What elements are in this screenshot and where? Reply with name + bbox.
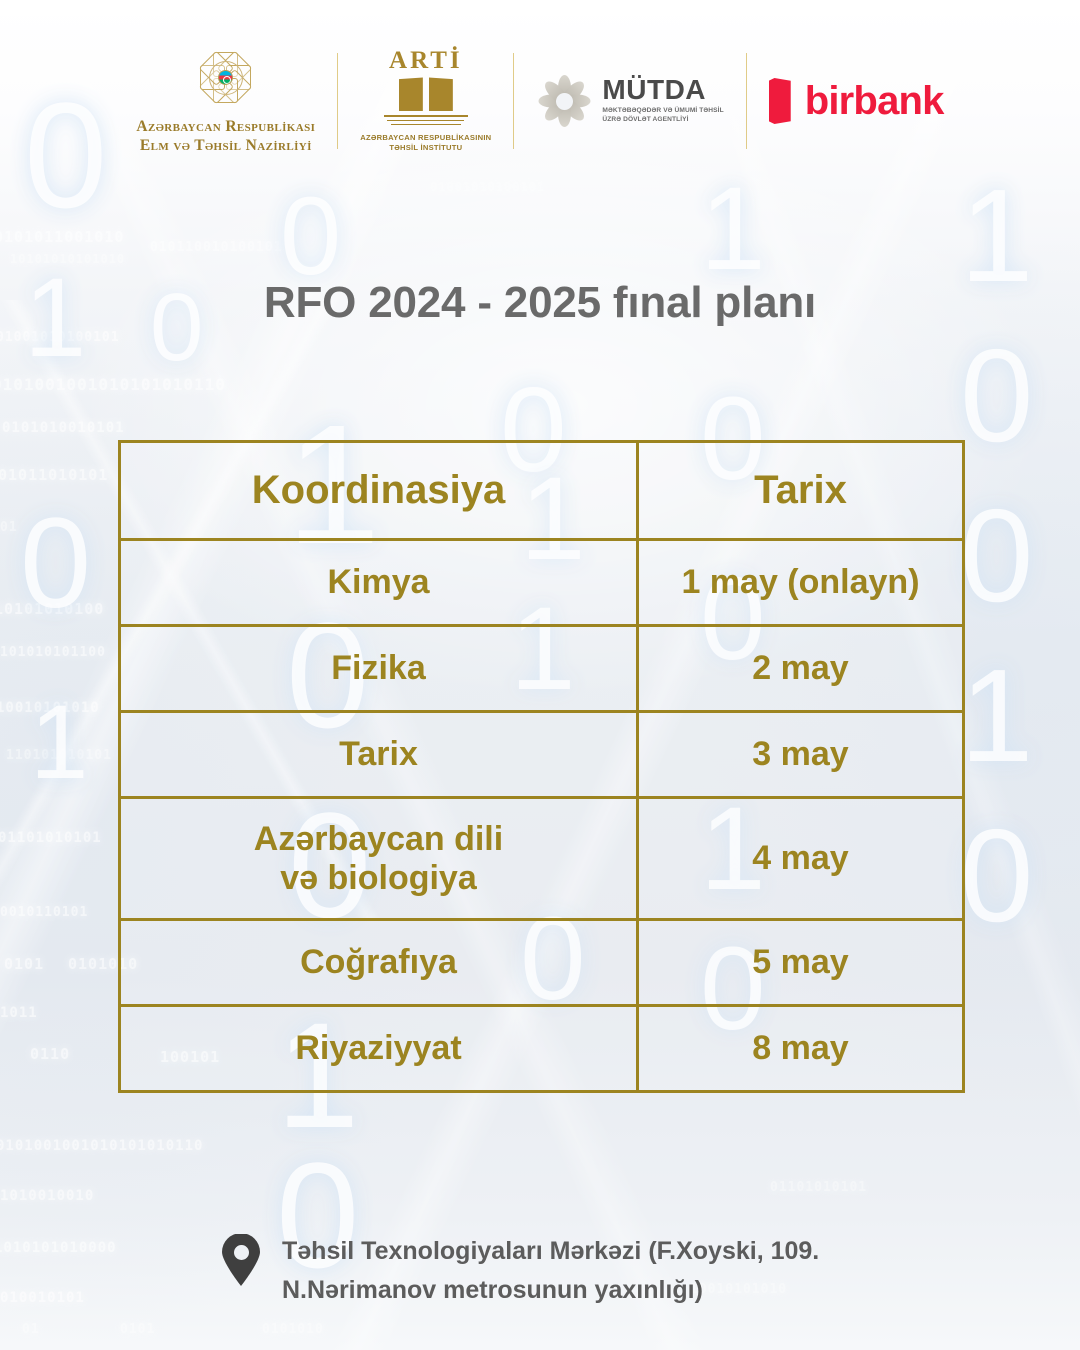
binary-digit-large: 0: [960, 810, 1033, 942]
binary-string: 010110010100101: [150, 240, 282, 255]
table-cell-subject-line2: və biologiya: [121, 859, 636, 897]
logo-ministry: Azərbaycan Respublikası Elm və Təhsil Na…: [114, 46, 337, 156]
table-cell-date: 5 may: [638, 920, 964, 1006]
table-header-koordinasiya: Koordinasiya: [120, 442, 638, 540]
binary-digit-large: 1: [700, 170, 766, 288]
footer-address: Təhsil Texnologiyaları Mərkəzi (F.Xoyski…: [222, 1232, 942, 1310]
binary-digit-large: 0: [960, 330, 1033, 462]
table-cell-date: 3 may: [638, 712, 964, 798]
binary-string: 0010110101: [0, 905, 88, 920]
arti-subtitle-line1: AZƏRBAYCAN RESPUBLİKASININ: [360, 133, 491, 143]
binary-string: 0101001001010101010110: [0, 375, 226, 394]
table-row: Riyaziyyat 8 may: [120, 1006, 964, 1092]
binary-string: 10010101010: [0, 700, 100, 716]
binary-string: 1011: [0, 1005, 38, 1021]
table-row: Coğrafıya 5 may: [120, 920, 964, 1006]
binary-digit-large: 1: [960, 650, 1033, 782]
table-cell-subject: Kimya: [120, 540, 638, 626]
binary-string: 10101010101010: [10, 252, 125, 266]
binary-string: 101010101100: [0, 645, 106, 660]
address-text: Təhsil Texnologiyaları Mərkəzi (F.Xoyski…: [282, 1232, 819, 1310]
table-cell-subject: Azərbaycan dili və biologiya: [120, 798, 638, 920]
binary-string: 01101010101: [0, 830, 102, 846]
table-header-tarix: Tarix: [638, 442, 964, 540]
schedule-table: Koordinasiya Tarix Kimya 1 may (onlayn) …: [118, 440, 965, 1093]
binary-string: 0101011001010: [0, 228, 124, 246]
binary-string: 01001010100101: [430, 180, 545, 194]
binary-string: 0101001001010101010110: [0, 1138, 203, 1154]
table-cell-subject: Coğrafıya: [120, 920, 638, 1006]
logo-mutda: MÜTDA MƏKTƏBƏQƏDƏR VƏ ÜMUMİ TƏHSİL ÜZRƏ …: [514, 46, 745, 156]
binary-string: 01: [22, 1322, 40, 1337]
mutda-subtitle-line2: ÜZRƏ DÖVLƏT AGENTLİYİ: [602, 116, 723, 125]
arti-rule-lines: [384, 115, 468, 128]
table-row: Tarix 3 may: [120, 712, 964, 798]
binary-string: 01001010100101: [0, 330, 120, 345]
table-cell-date: 2 may: [638, 626, 964, 712]
ministry-name-line1: Azərbaycan Respublikası: [136, 118, 315, 137]
address-line1: Təhsil Texnologiyaları Mərkəzi (F.Xoyski…: [282, 1232, 819, 1271]
arti-subtitle-line2: TƏHSİL İNSTİTUTU: [360, 143, 491, 153]
table-cell-date: 4 may: [638, 798, 964, 920]
binary-string: 01101010101: [770, 1180, 867, 1195]
binary-string: 1010101010000: [0, 1240, 117, 1256]
birbank-mark-icon: [769, 78, 791, 124]
binary-digit-large: 0: [960, 490, 1033, 622]
azerbaijan-ministry-emblem-icon: [195, 47, 257, 109]
mutda-wordmark: MÜTDA: [602, 77, 723, 104]
table-cell-subject-line1: Azərbaycan dili: [121, 820, 636, 858]
binary-string: 0101: [4, 955, 44, 973]
table-row: Kimya 1 may (onlayn): [120, 540, 964, 626]
binary-string: 10101010100: [0, 600, 104, 618]
binary-digit-large: 0: [20, 500, 91, 628]
binary-string: 0101010: [262, 1322, 324, 1337]
table-header-row: Koordinasiya Tarix: [120, 442, 964, 540]
location-pin-icon: [222, 1234, 260, 1286]
logo-bar: Azərbaycan Respublikası Elm və Təhsil Na…: [0, 36, 1080, 166]
table-cell-subject: Fizika: [120, 626, 638, 712]
address-line2: N.Nərimanov metrosunun yaxınlığı): [282, 1271, 819, 1310]
page-title: RFO 2024 - 2025 fınal planı: [0, 278, 1080, 328]
binary-string: 01: [0, 520, 18, 535]
poster-root: 0101011001010 10101010101010 01001010100…: [0, 0, 1080, 1350]
table-row: Azərbaycan dili və biologiya 4 may: [120, 798, 964, 920]
binary-string: 0101: [120, 1322, 155, 1337]
logo-divider: [513, 53, 514, 149]
arti-subtitle: AZƏRBAYCAN RESPUBLİKASININ TƏHSİL İNSTİT…: [360, 133, 491, 154]
binary-string: 01011010101: [0, 466, 108, 484]
table-cell-date: 1 may (onlayn): [638, 540, 964, 626]
table-cell-date: 8 may: [638, 1006, 964, 1092]
ministry-name: Azərbaycan Respublikası Elm və Təhsil Na…: [136, 118, 315, 156]
arti-wordmark: ARTİ: [389, 48, 463, 73]
logo-birbank: birbank: [747, 46, 966, 156]
binary-digit-large: 0: [280, 182, 341, 292]
table-cell-subject: Tarix: [120, 712, 638, 798]
schedule-table-wrapper: Koordinasiya Tarix Kimya 1 may (onlayn) …: [118, 440, 962, 1093]
binary-string: 010010101: [0, 1290, 85, 1306]
logo-divider: [746, 53, 747, 149]
binary-string: 110101010101: [6, 748, 112, 763]
mutda-snowflake-icon: [536, 73, 592, 129]
logo-divider: [337, 53, 338, 149]
binary-string: 0101010010101: [2, 420, 125, 436]
birbank-wordmark: birbank: [805, 81, 944, 121]
open-book-icon: [399, 77, 453, 111]
mutda-subtitle: MƏKTƏBƏQƏDƏR VƏ ÜMUMİ TƏHSİL ÜZRƏ DÖVLƏT…: [602, 107, 723, 125]
mutda-subtitle-line1: MƏKTƏBƏQƏDƏR VƏ ÜMUMİ TƏHSİL: [602, 107, 723, 116]
binary-string: 0110: [30, 1045, 70, 1063]
logo-arti: ARTİ AZƏRBAYCAN RESPUBLİKASININ TƏHSİL İ…: [338, 46, 513, 156]
binary-digit-large: 1: [30, 690, 88, 795]
binary-string: 1010010010: [0, 1188, 94, 1204]
table-cell-subject: Riyaziyyat: [120, 1006, 638, 1092]
ministry-name-line2: Elm və Təhsil Nazirliyi: [136, 137, 315, 156]
table-row: Fizika 2 may: [120, 626, 964, 712]
